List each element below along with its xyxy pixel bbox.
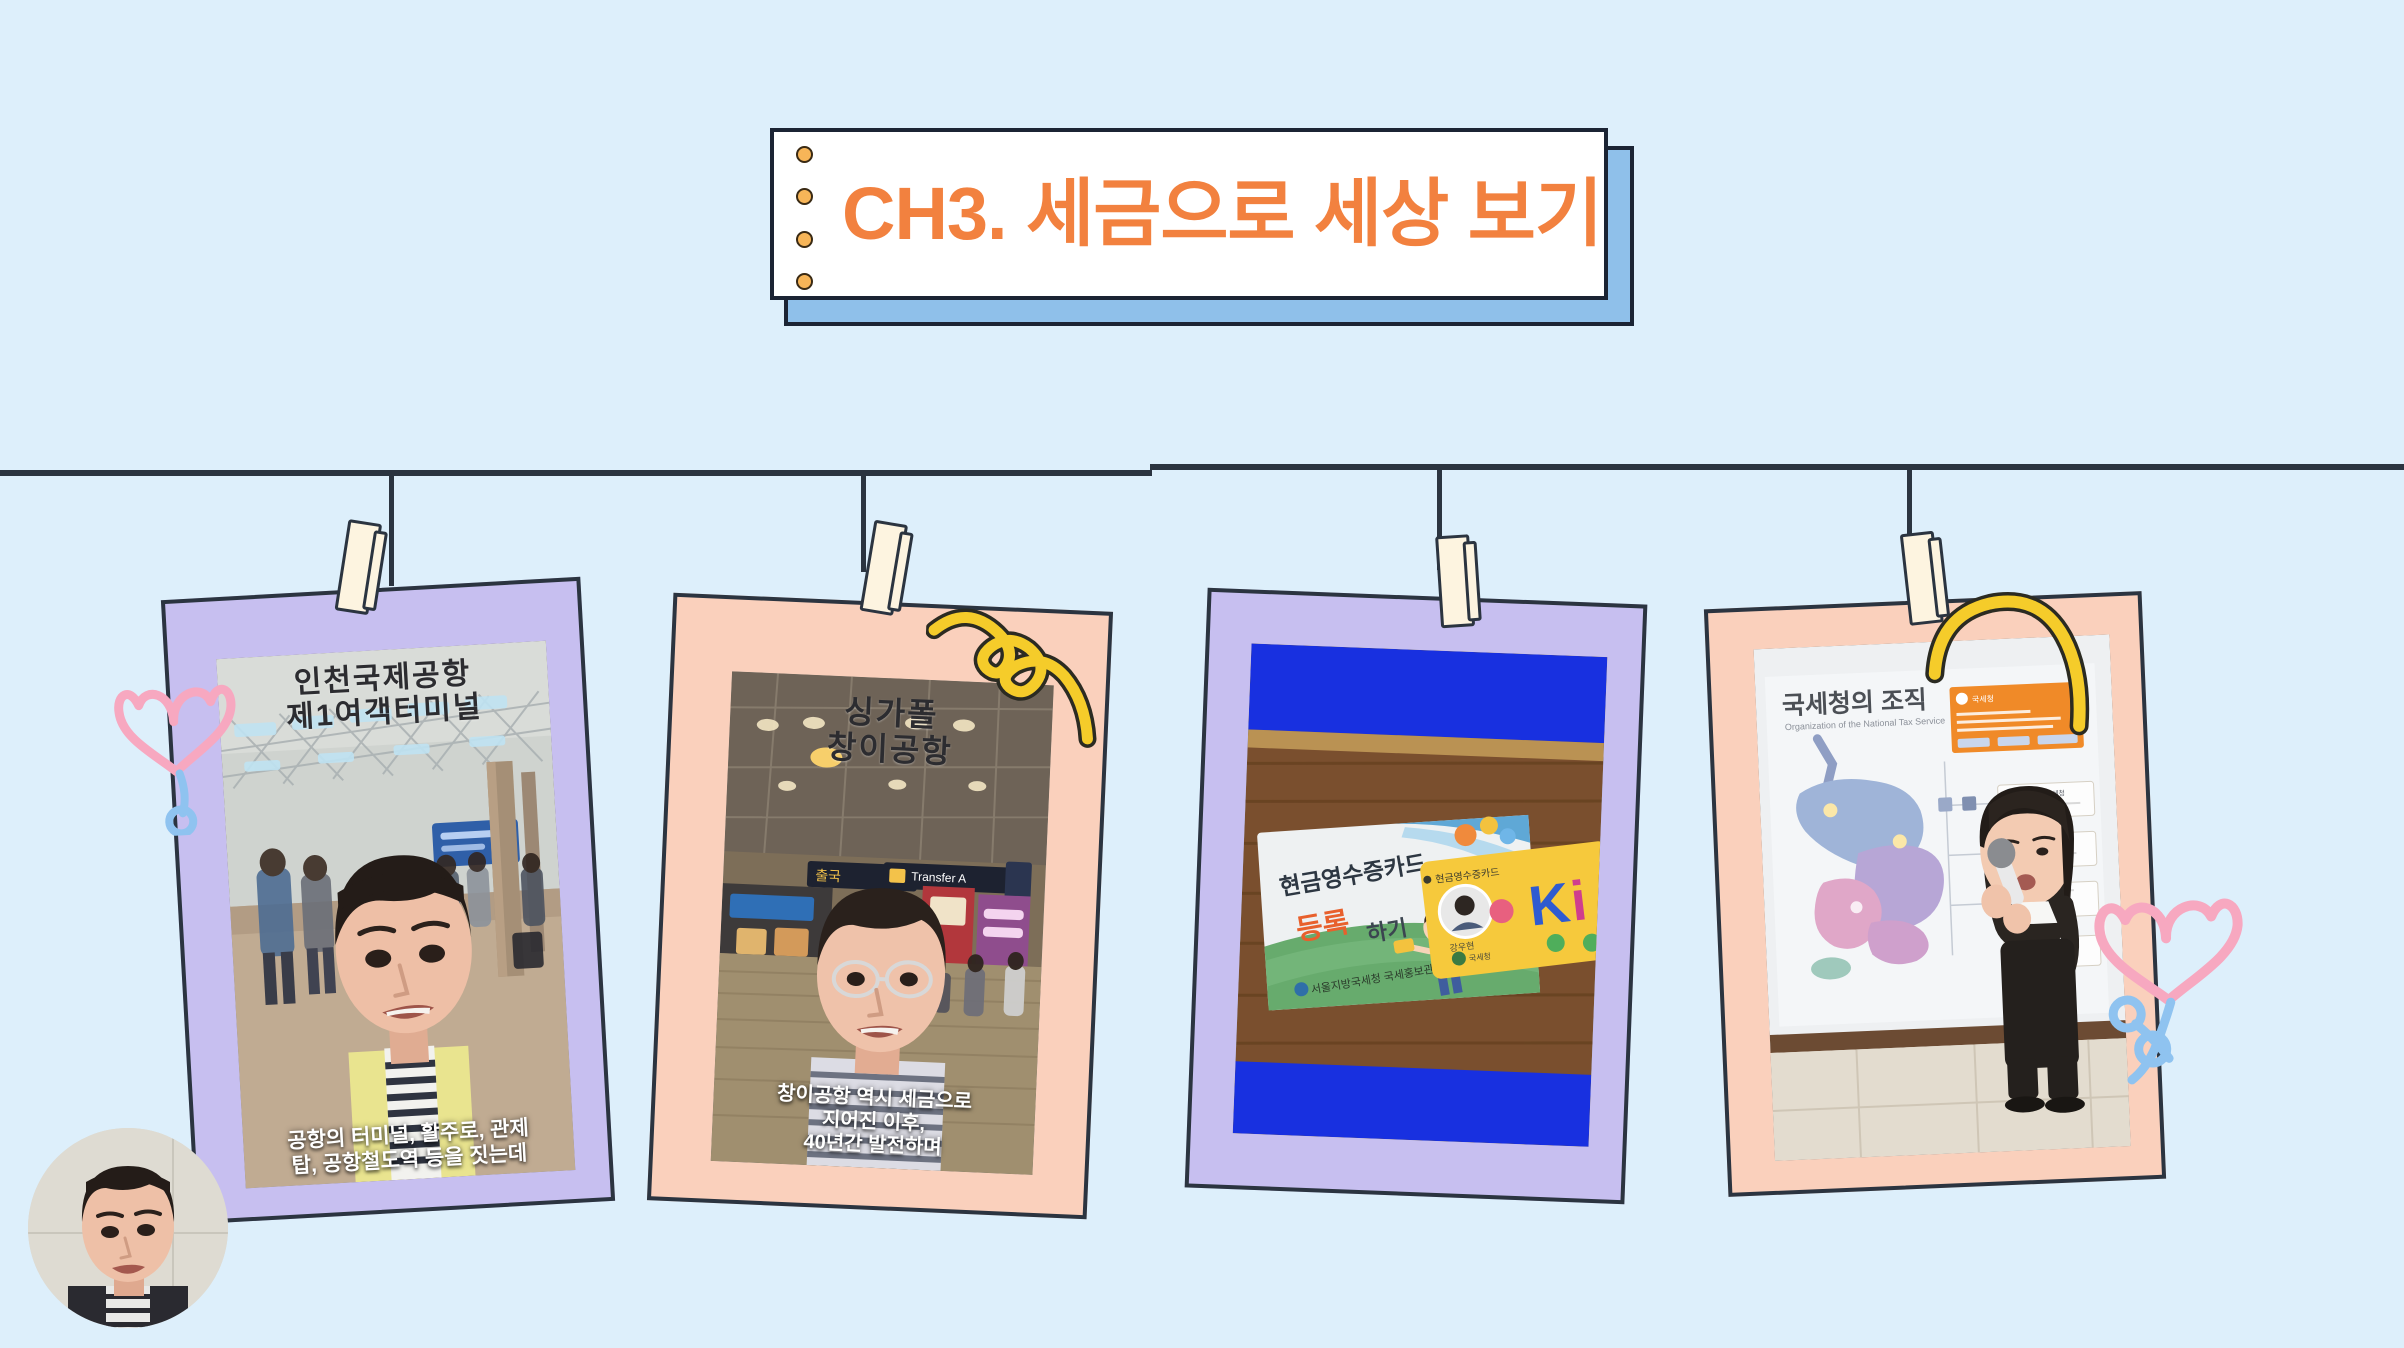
clothesline-right (1150, 464, 2404, 470)
clothespin-clip (1435, 534, 1475, 628)
slide-canvas: CH3. 세금으로 세상 보기 (0, 0, 2404, 1348)
receipt-scene-svg: 현금영수증카드 등록 하기 서울지방국세청 국세홍보관 (1233, 644, 1608, 1147)
photo-card-nts-organization[interactable]: 국세청의 조직 Organization of the National Tax… (1704, 591, 2166, 1197)
photo-image-cash-receipt: 현금영수증카드 등록 하기 서울지방국세청 국세홍보관 (1233, 644, 1608, 1147)
webcam-face (28, 1128, 228, 1328)
airport-terminal-scene (216, 641, 575, 1189)
pink-heart-icon (2089, 858, 2288, 1096)
page-title: CH3. 세금으로 세상 보기 (842, 177, 1602, 251)
svg-text:K: K (1525, 870, 1573, 937)
photo-card-cash-receipt[interactable]: 현금영수증카드 등록 하기 서울지방국세청 국세홍보관 (1185, 588, 1648, 1204)
photo-image-incheon: 인천국제공항 제1여객터미널 공항의 터미널, 활주로, 관제 탑, 공항철도역… (216, 641, 575, 1189)
bullet-dot-icon (796, 273, 813, 290)
bullet-dot-icon (796, 146, 813, 163)
photo-card-incheon[interactable]: 인천국제공항 제1여객터미널 공항의 터미널, 활주로, 관제 탑, 공항철도역… (161, 577, 615, 1224)
title-bullet-dots (796, 146, 813, 290)
clothespin-clip (859, 520, 908, 616)
hanging-string (861, 476, 866, 572)
clothespin-clip (1900, 531, 1944, 626)
yellow-ribbon-icon (921, 596, 1117, 754)
bullet-dot-icon (796, 188, 813, 205)
bullet-dot-icon (796, 231, 813, 248)
clothespin-clip (335, 519, 383, 615)
title-card: CH3. 세금으로 세상 보기 (770, 128, 1608, 300)
cash-receipt-brochure-scene: 현금영수증카드 등록 하기 서울지방국세청 국세홍보관 (1233, 644, 1608, 1147)
pink-heart-icon (103, 632, 244, 839)
photo-card-changi[interactable]: 출국 Transfer A (647, 593, 1113, 1220)
clothesline-left (0, 470, 1152, 476)
svg-text:출국: 출국 (815, 867, 842, 884)
svg-text:Transfer A: Transfer A (911, 869, 966, 885)
student-webcam-avatar[interactable] (28, 1128, 228, 1328)
hanging-string (389, 476, 394, 586)
incheon-scene-svg (216, 641, 575, 1189)
slide-title-block: CH3. 세금으로 세상 보기 (770, 128, 1630, 313)
